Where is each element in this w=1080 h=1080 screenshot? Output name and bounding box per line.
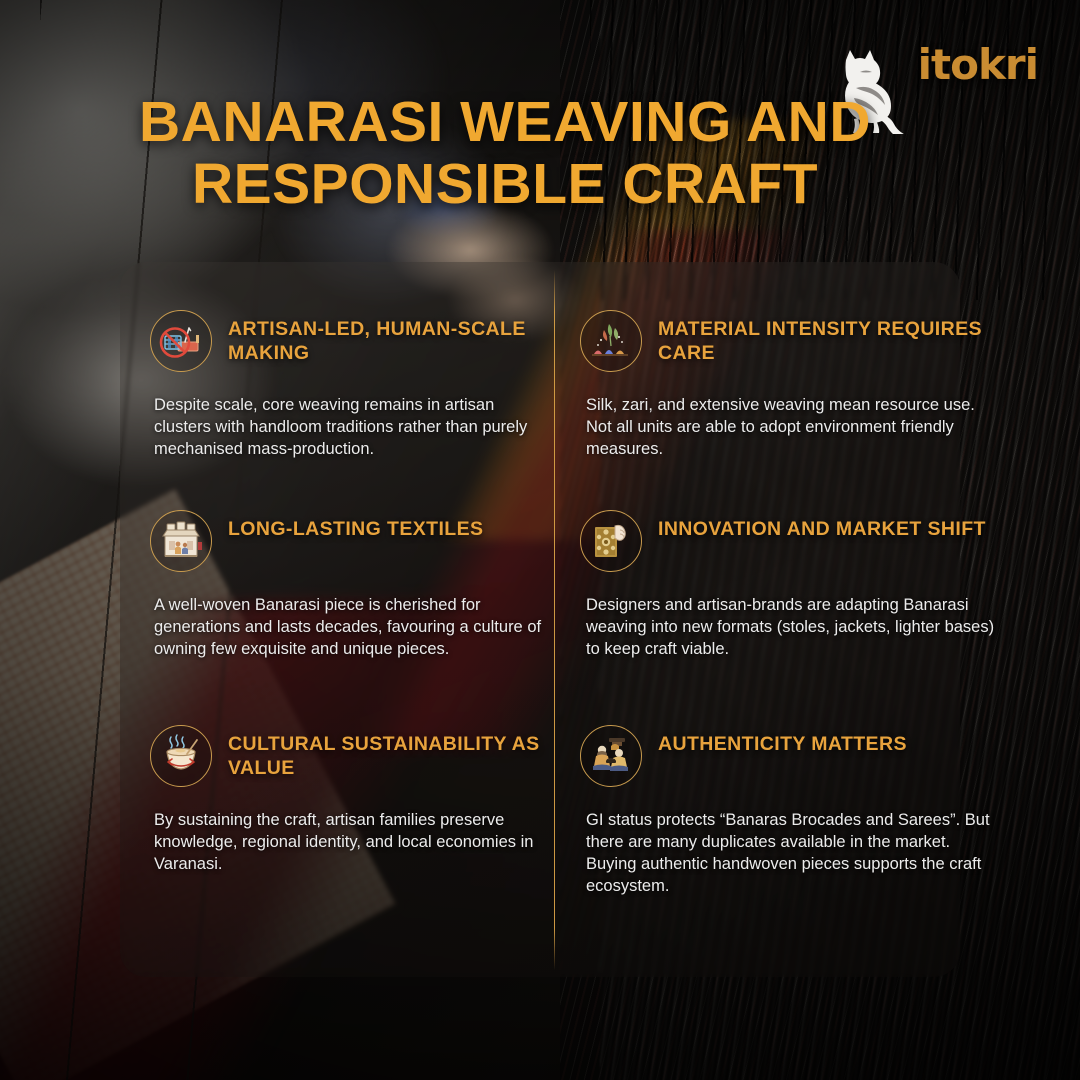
card-authenticity-matters[interactable]: AUTHENTICITY MATTERS GI status protects … [580,725,1000,897]
icon-ring [580,725,642,787]
icon-ring [150,725,212,787]
card-title: MATERIAL INTENSITY REQUIRES CARE [658,310,1000,366]
page-title-line-2: RESPONSIBLE CRAFT [90,154,920,216]
two-artisans-weaving-icon [587,732,635,780]
column-divider [554,270,555,970]
card-header: LONG-LASTING TEXTILES [150,510,550,572]
icon-ring [150,510,212,572]
natural-dye-leaves-icon [588,318,634,364]
brand-logo[interactable]: itokri [918,40,1038,89]
card-header: MATERIAL INTENSITY REQUIRES CARE [580,310,1000,372]
card-body: Designers and artisan-brands are adaptin… [580,594,1000,660]
steaming-dye-pot-icon [157,732,205,780]
card-body: Despite scale, core weaving remains in a… [150,394,550,460]
card-title: INNOVATION AND MARKET SHIFT [658,510,986,542]
card-header: CULTURAL SUSTAINABILITY AS VALUE [150,725,550,787]
card-title: LONG-LASTING TEXTILES [228,510,483,542]
card-title: ARTISAN-LED, HUMAN-SCALE MAKING [228,310,550,366]
no-power-loom-icon [158,318,204,364]
page-title-line-1: BANARASI WEAVING AND [139,90,871,154]
card-innovation-market-shift[interactable]: INNOVATION AND MARKET SHIFT Designers an… [580,510,1000,660]
card-long-lasting-textiles[interactable]: LONG-LASTING TEXTILES A well-woven Banar… [150,510,550,660]
header: BANARASI WEAVING AND RESPONSIBLE CRAFT i… [0,0,1080,262]
content-panel: ARTISAN-LED, HUMAN-SCALE MAKING Despite … [120,262,960,977]
card-body: Silk, zari, and extensive weaving mean r… [580,394,1000,460]
icon-ring [150,310,212,372]
card-title: CULTURAL SUSTAINABILITY AS VALUE [228,725,550,781]
card-header: AUTHENTICITY MATTERS [580,725,1000,787]
card-body: A well-woven Banarasi piece is cherished… [150,594,550,660]
card-title: AUTHENTICITY MATTERS [658,725,907,757]
card-body: By sustaining the craft, artisan familie… [150,809,550,875]
icon-ring [580,310,642,372]
card-artisan-led[interactable]: ARTISAN-LED, HUMAN-SCALE MAKING Despite … [150,310,550,460]
hand-holding-brocade-icon [587,517,635,565]
card-header: INNOVATION AND MARKET SHIFT [580,510,1000,572]
page-title: BANARASI WEAVING AND RESPONSIBLE CRAFT [90,92,920,215]
card-body: GI status protects “Banaras Brocades and… [580,809,1000,897]
icon-ring [580,510,642,572]
card-header: ARTISAN-LED, HUMAN-SCALE MAKING [150,310,550,372]
artisan-shop-icon [157,517,205,565]
card-cultural-sustainability[interactable]: CULTURAL SUSTAINABILITY AS VALUE By sust… [150,725,550,875]
card-material-intensity[interactable]: MATERIAL INTENSITY REQUIRES CARE Silk, z… [580,310,1000,460]
